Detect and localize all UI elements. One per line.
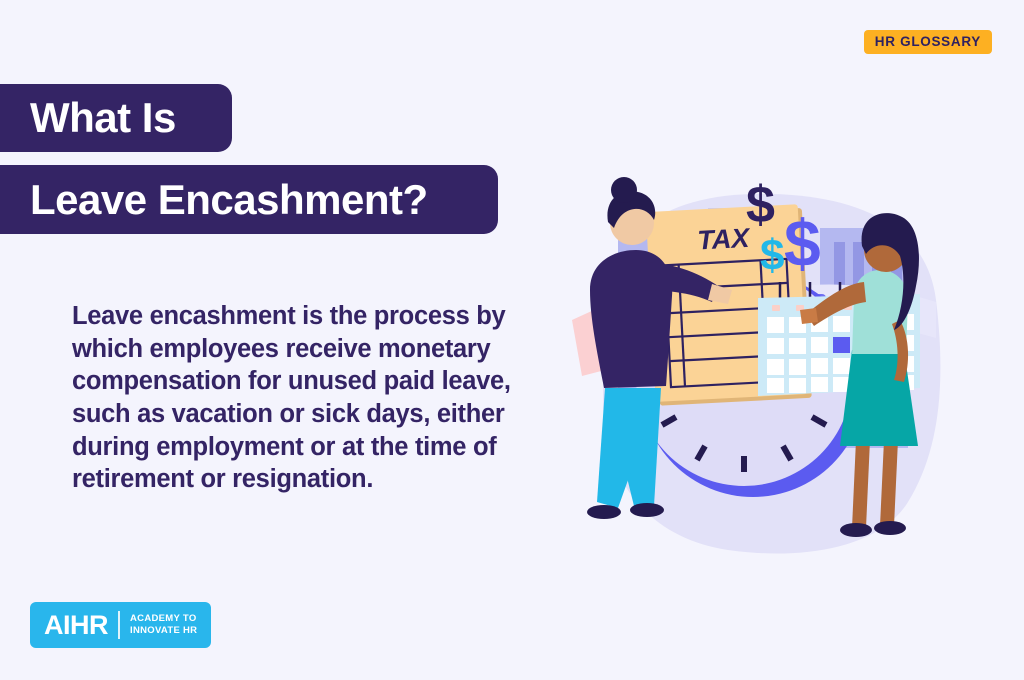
person-left-hair-bun (611, 177, 637, 203)
person-left-shoe-left (587, 505, 621, 519)
page-title-line-2: Leave Encashment? (0, 165, 498, 234)
person-right-shoe-right (874, 521, 906, 535)
aihr-logo-tagline: ACADEMY TO INNOVATE HR (130, 613, 197, 637)
page-title-line-2-text: Leave Encashment? (30, 176, 428, 224)
calendar-highlighted-day (833, 337, 850, 353)
dollar-sign-blue: $ (784, 206, 821, 280)
page-title-line-1: What Is (0, 84, 232, 152)
tax-form-title: TAX (697, 223, 752, 256)
aihr-logo-wordmark: AIHR (44, 612, 108, 639)
person-right-shoe-left (840, 523, 872, 537)
leave-encashment-illustration: TAX $ $ $ (548, 150, 978, 580)
hr-glossary-badge: HR GLOSSARY (864, 30, 992, 54)
aihr-logo[interactable]: AIHR ACADEMY TO INNOVATE HR (30, 602, 211, 648)
logo-tagline-line-1: ACADEMY TO (130, 613, 197, 624)
dollar-sign-cyan: $ (760, 231, 784, 280)
logo-tagline-line-2: INNOVATE HR (130, 625, 197, 636)
page-title-line-1-text: What Is (30, 94, 176, 142)
person-left-shoe-right (630, 503, 664, 517)
dollar-sign-navy: $ (746, 176, 775, 234)
logo-divider (118, 611, 120, 639)
person-right-hand (800, 308, 818, 324)
definition-paragraph: Leave encashment is the process by which… (72, 300, 524, 496)
